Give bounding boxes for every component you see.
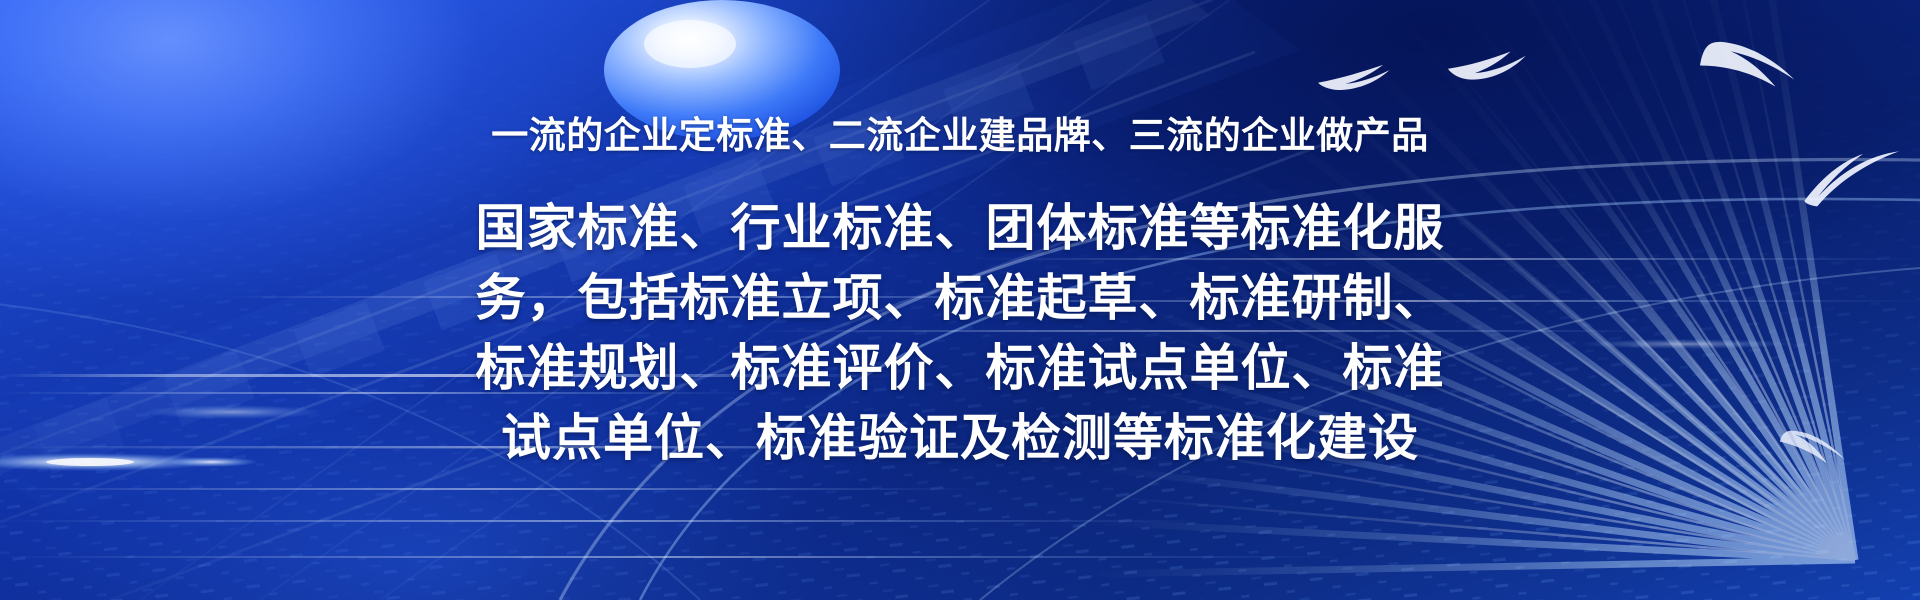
banner-body-line-1: 国家标准、行业标准、团体标准等标准化服 — [423, 193, 1498, 263]
banner-body-line-2: 务，包括标准立项、标准起草、标准研制、 — [423, 263, 1498, 333]
banner-body: 国家标准、行业标准、团体标准等标准化服 务，包括标准立项、标准起草、标准研制、 … — [423, 193, 1498, 473]
banner-body-line-4: 试点单位、标准验证及检测等标准化建设 — [423, 403, 1498, 473]
banner-headline: 一流的企业定标准、二流企业建品牌、三流的企业做产品 — [491, 116, 1429, 157]
banner-text-block: 一流的企业定标准、二流企业建品牌、三流的企业做产品 国家标准、行业标准、团体标准… — [0, 0, 1920, 600]
banner-body-line-3: 标准规划、标准评价、标准试点单位、标准 — [423, 333, 1498, 403]
promo-banner: 一流的企业定标准、二流企业建品牌、三流的企业做产品 国家标准、行业标准、团体标准… — [0, 0, 1920, 600]
